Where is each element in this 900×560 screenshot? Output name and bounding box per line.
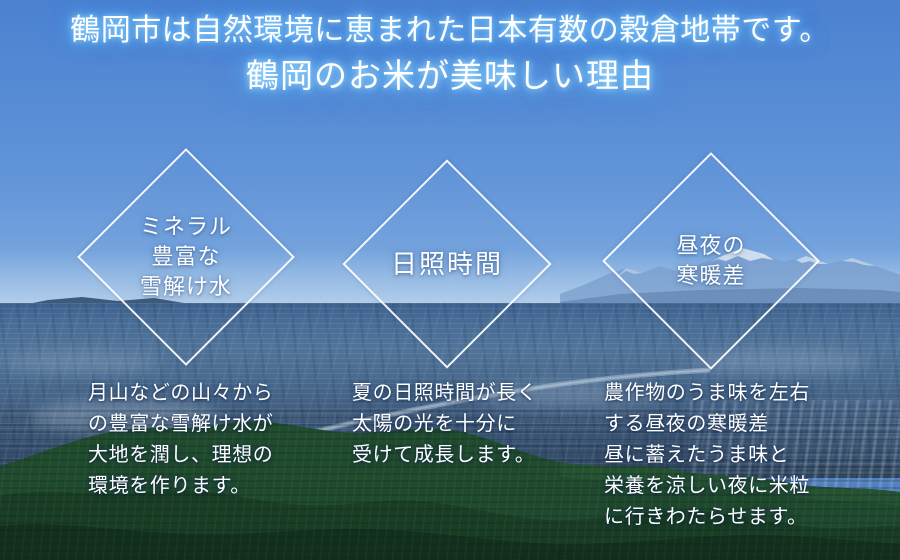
diamond-label: ミネラル 豊富な 雪解け水 — [109, 180, 263, 334]
diamond-label-line: 寒暖差 — [676, 261, 745, 291]
caption-line: に行きわたらせます。 — [604, 502, 810, 533]
diamond-label-line: 昼夜の — [676, 231, 745, 261]
headline: 鶴岡市は自然環境に恵まれた日本有数の穀倉地帯です。 鶴岡のお米が美味しい理由 — [0, 0, 900, 95]
feature-caption-sunshine-hours: 夏の日照時間が長く 太陽の光を十分に 受けて成長します。 — [352, 378, 537, 471]
infographic-banner: 鶴岡市は自然環境に恵まれた日本有数の穀倉地帯です。 鶴岡のお米が美味しい理由 ミ… — [0, 0, 900, 560]
diamond-label: 昼夜の 寒暖差 — [634, 184, 788, 338]
caption-line: 月山などの山々から — [88, 378, 273, 409]
feature-caption-mineral-snowmelt: 月山などの山々から の豊富な雪解け水が 大地を潤し、理想の 環境を作ります。 — [88, 378, 273, 502]
feature-diamond-day-night-temperature-range: 昼夜の 寒暖差 — [634, 184, 788, 338]
caption-line: 環境を作ります。 — [88, 471, 273, 502]
caption-line: する昼夜の寒暖差 — [604, 409, 810, 440]
caption-line: 農作物のうま味を左右 — [604, 378, 810, 409]
caption-line: 太陽の光を十分に — [352, 409, 537, 440]
diamond-label-line: ミネラル — [140, 212, 232, 242]
caption-line: 夏の日照時間が長く — [352, 378, 537, 409]
diamond-label-line: 日照時間 — [391, 247, 503, 281]
caption-line: 栄養を涼しい夜に米粒 — [604, 471, 810, 502]
headline-line-2: 鶴岡のお米が美味しい理由 — [0, 57, 900, 95]
caption-line: 昼に蓄えたうま味と — [604, 440, 810, 471]
feature-diamond-mineral-snowmelt: ミネラル 豊富な 雪解け水 — [109, 180, 263, 334]
caption-line: 受けて成長します。 — [352, 440, 537, 471]
diamond-label-line: 豊富な — [151, 242, 220, 272]
feature-diamond-sunshine-hours: 日照時間 — [373, 190, 521, 338]
feature-caption-day-night-temperature-range: 農作物のうま味を左右 する昼夜の寒暖差 昼に蓄えたうま味と 栄養を涼しい夜に米粒… — [604, 378, 810, 533]
caption-line: の豊富な雪解け水が — [88, 409, 273, 440]
diamond-label-line: 雪解け水 — [140, 272, 232, 302]
diamond-label: 日照時間 — [373, 190, 521, 338]
caption-line: 大地を潤し、理想の — [88, 440, 273, 471]
headline-line-1: 鶴岡市は自然環境に恵まれた日本有数の穀倉地帯です。 — [0, 14, 900, 48]
